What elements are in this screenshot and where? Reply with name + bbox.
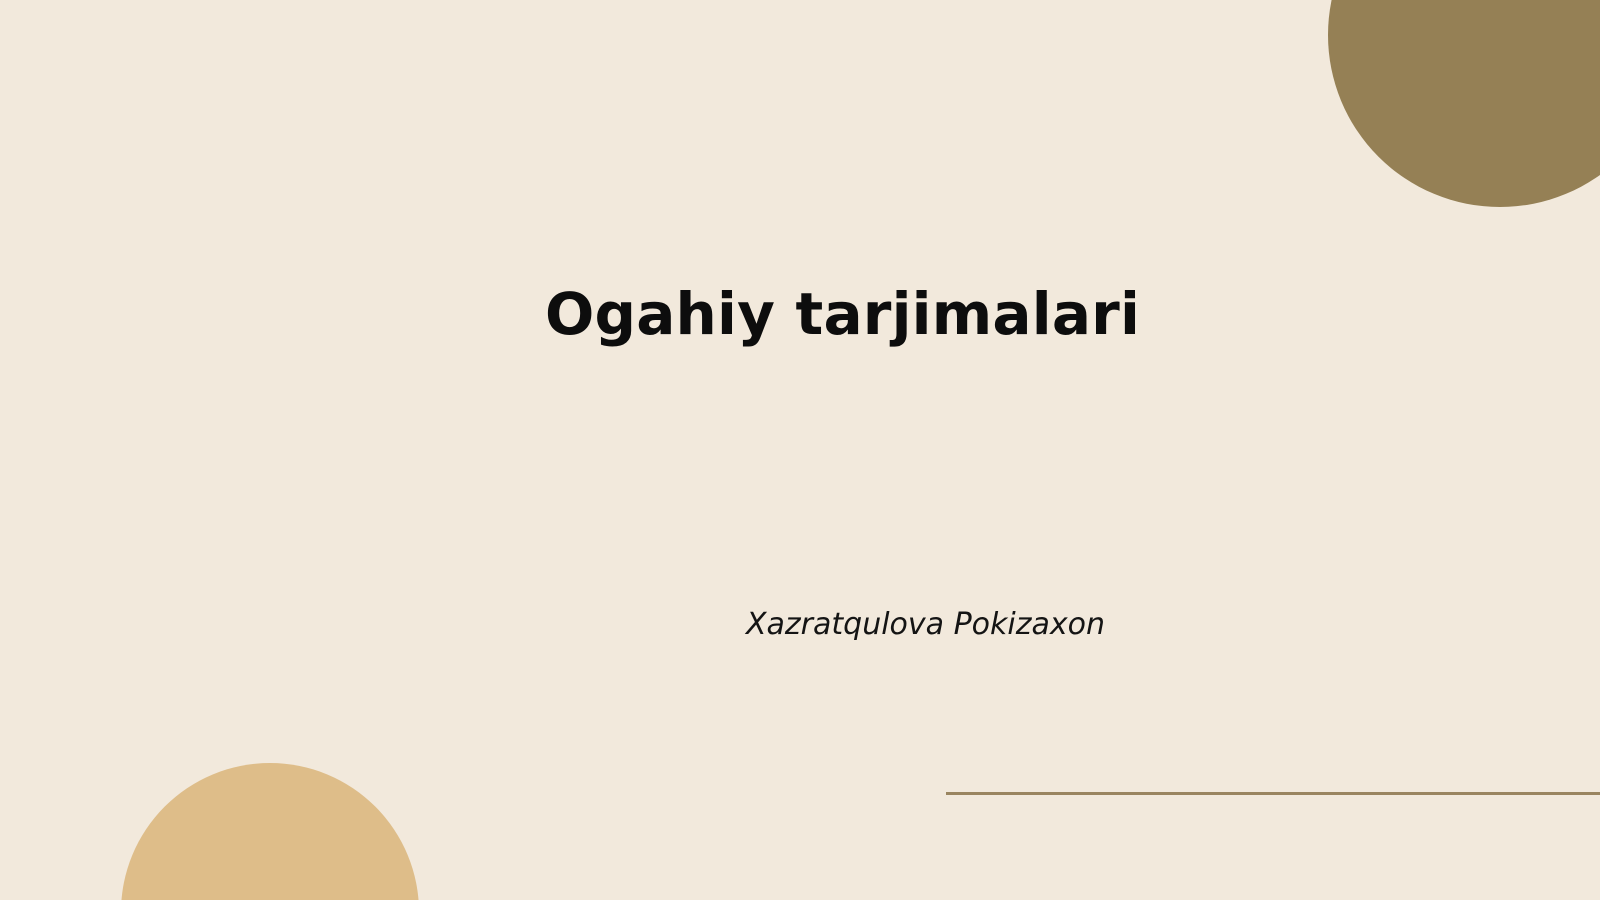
decorative-circle-top-right-icon: [1328, 0, 1600, 207]
slide-subtitle-author: Xazratqulova Pokizaxon: [746, 605, 1446, 644]
decorative-divider-line: [946, 792, 1600, 795]
presentation-slide: Ogahiy tarjimalari Xazratqulova Pokizaxo…: [0, 0, 1600, 900]
slide-title: Ogahiy tarjimalari: [545, 281, 1445, 348]
decorative-circle-bottom-left-icon: [121, 763, 419, 900]
